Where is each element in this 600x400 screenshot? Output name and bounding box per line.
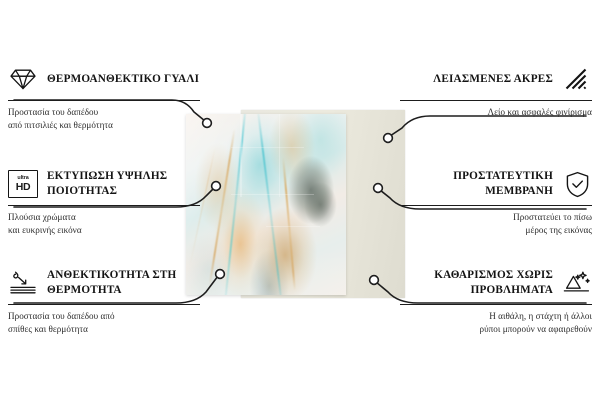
ultra-hd-big-label: HD xyxy=(16,182,31,193)
feature-title: ΕΚΤΥΠΩΣΗ ΥΨΗΛΗΣ ΠΟΙΟΤΗΤΑΣ xyxy=(47,169,200,199)
feature-polished-edges: ΛΕΙΑΣΜΕΝΕΣ ΑΚΡΕΣ Λείο και ασφαλές φινίρι… xyxy=(400,62,592,119)
abstract-ink-artwork xyxy=(186,114,346,295)
feature-description-line: Η αιθάλη, η στάχτη ή άλλοι xyxy=(400,310,592,323)
product-glass-panel xyxy=(186,114,346,295)
feature-heat-durability: ΑΝΘΕΚΤΙΚΟΤΗΤΑ ΣΤΗ ΘΕΡΜΟΤΗΤΑ Προστασία το… xyxy=(8,266,200,336)
feature-description: Πλούσια χρώματα και ευκρινής εικόνα xyxy=(8,211,200,237)
feature-description: Προστατεύει το πίσω μέρος της εικόνας xyxy=(400,211,592,237)
feature-description-line: από πιτσιλιές και θερμότητα xyxy=(8,119,200,132)
feature-header: ΑΝΘΕΚΤΙΚΟΤΗΤΑ ΣΤΗ ΘΕΡΜΟΤΗΤΑ xyxy=(8,266,200,300)
ink-vein-teal-2 xyxy=(257,114,283,295)
connector-right-1 xyxy=(390,116,586,136)
easy-clean-sparkle-icon xyxy=(562,268,592,298)
feature-high-quality-print: ultra HD ΕΚΤΥΠΩΣΗ ΥΨΗΛΗΣ ΠΟΙΟΤΗΤΑΣ Πλούσ… xyxy=(8,167,200,237)
feature-description-line: σπίθες και θερμότητα xyxy=(8,323,200,336)
ink-vein-teal-1 xyxy=(223,114,247,295)
feature-description-line: Προστατεύει το πίσω xyxy=(400,211,592,224)
feature-header: ultra HD ΕΚΤΥΠΩΣΗ ΥΨΗΛΗΣ ΠΟΙΟΤΗΤΑΣ xyxy=(8,167,200,201)
feature-divider xyxy=(400,100,592,101)
feature-header: ΚΑΘΑΡΙΣΜΟΣ ΧΩΡΙΣ ΠΡΟΒΛΗΜΑΤΑ xyxy=(400,266,592,300)
feature-protective-membrane: ΠΡΟΣΤΑΤΕΥΤΙΚΗ ΜΕΜΒΡΑΝΗ Προστατεύει το πί… xyxy=(400,167,592,237)
feature-heat-resistant-glass: ΘΕΡΜΟΑΝΘΕΚΤΙΚΟ ΓΥΑΛΙ Προστασία του δαπέδ… xyxy=(8,62,200,132)
feature-easy-cleaning: ΚΑΘΑΡΙΣΜΟΣ ΧΩΡΙΣ ΠΡΟΒΛΗΜΑΤΑ Η αιθάλη, η … xyxy=(400,266,592,336)
heat-resistance-icon xyxy=(8,268,38,298)
feature-title: ΠΡΟΣΤΑΤΕΥΤΙΚΗ ΜΕΜΒΡΑΝΗ xyxy=(400,169,553,199)
feature-divider xyxy=(400,205,592,206)
feature-description: Η αιθάλη, η στάχτη ή άλλοι ρύποι μπορούν… xyxy=(400,310,592,336)
feature-title: ΘΕΡΜΟΑΝΘΕΚΤΙΚΟ ΓΥΑΛΙ xyxy=(47,72,199,87)
feature-description-line: Προστασία του δαπέδου xyxy=(8,106,200,119)
feature-description-line: ρύποι μπορούν να αφαιρεθούν xyxy=(400,323,592,336)
feature-divider xyxy=(8,304,200,305)
feature-description: Προστασία του δαπέδου από πιτσιλιές και … xyxy=(8,106,200,132)
feature-title: ΛΕΙΑΣΜΕΝΕΣ ΑΚΡΕΣ xyxy=(433,72,553,87)
feature-description-line: Λείο και ασφαλές φινίρισμα xyxy=(400,106,592,119)
feature-description-line: μέρος της εικόνας xyxy=(400,224,592,237)
feature-title: ΚΑΘΑΡΙΣΜΟΣ ΧΩΡΙΣ ΠΡΟΒΛΗΜΑΤΑ xyxy=(400,268,553,298)
feature-header: ΠΡΟΣΤΑΤΕΥΤΙΚΗ ΜΕΜΒΡΑΝΗ xyxy=(400,167,592,201)
product-image xyxy=(186,110,405,298)
feature-description-line: και ευκρινής εικόνα xyxy=(8,224,200,237)
feature-description: Προστασία του δαπέδου από σπίθες και θερ… xyxy=(8,310,200,336)
product-feature-infographic: ΘΕΡΜΟΑΝΘΕΚΤΙΚΟ ΓΥΑΛΙ Προστασία του δαπέδ… xyxy=(0,0,600,400)
polished-edges-icon xyxy=(562,64,592,94)
ink-vein-gold-2 xyxy=(283,158,297,292)
feature-divider xyxy=(8,100,200,101)
feature-divider xyxy=(8,205,200,206)
ultra-hd-badge-icon: ultra HD xyxy=(8,169,38,199)
feature-header: ΘΕΡΜΟΑΝΘΕΚΤΙΚΟ ΓΥΑΛΙ xyxy=(8,62,200,96)
diamond-icon xyxy=(8,64,38,94)
feature-divider xyxy=(400,304,592,305)
feature-header: ΛΕΙΑΣΜΕΝΕΣ ΑΚΡΕΣ xyxy=(400,62,592,96)
feature-description-line: Προστασία του δαπέδου από xyxy=(8,310,200,323)
feature-description: Λείο και ασφαλές φινίρισμα xyxy=(400,106,592,119)
feature-title: ΑΝΘΕΚΤΙΚΟΤΗΤΑ ΣΤΗ ΘΕΡΜΟΤΗΤΑ xyxy=(47,268,200,298)
shield-check-icon xyxy=(562,169,592,199)
feature-description-line: Πλούσια χρώματα xyxy=(8,211,200,224)
